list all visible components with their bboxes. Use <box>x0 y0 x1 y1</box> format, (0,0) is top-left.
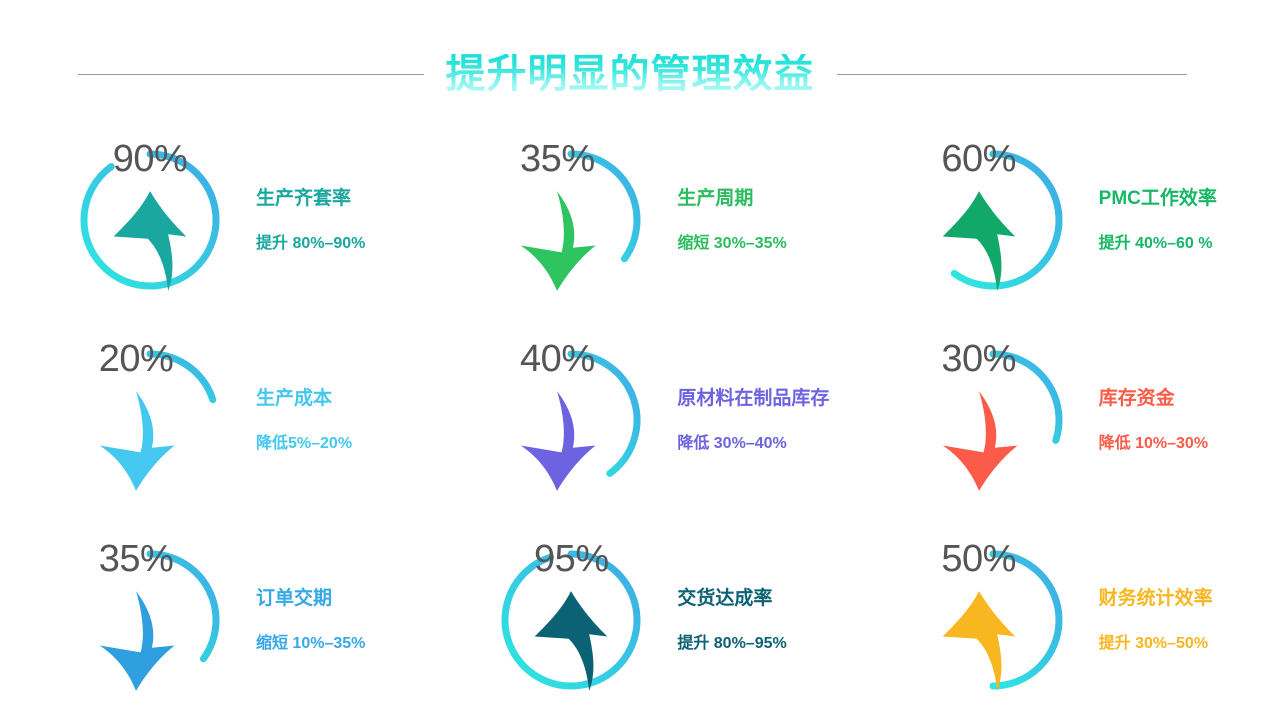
gauge-metric-name: 生产齐套率 <box>256 189 365 208</box>
gauge-ring: 20% <box>70 340 230 500</box>
header-rule-right <box>837 74 1187 75</box>
gauge-cell: 90%生产齐套率提升 80%–90% <box>0 120 421 320</box>
gauge-metric-name: 订单交期 <box>256 589 365 608</box>
gauge-cell: 35%生产周期缩短 30%–35% <box>421 120 842 320</box>
gauge-cell: 20%生产成本降低5%–20% <box>0 320 421 520</box>
gauge-arc-svg <box>913 540 1073 700</box>
gauge-metric-detail: 降低5%–20% <box>256 436 352 452</box>
gauge-arc <box>993 354 1059 440</box>
gauge-cell: 50%财务统计效率提升 30%–50% <box>843 520 1264 720</box>
gauge-metric-detail: 缩短 10%–35% <box>256 636 365 652</box>
gauge-metric-name: 交货达成率 <box>677 589 786 608</box>
gauge-labels: 库存资金降低 10%–30% <box>1099 389 1208 452</box>
gauge-ring: 30% <box>913 340 1073 500</box>
gauge-cell: 95%交货达成率提升 80%–95% <box>421 520 842 720</box>
gauge-metric-name: 财务统计效率 <box>1099 589 1213 608</box>
gauge-arc-svg <box>491 540 651 700</box>
header-rule-left <box>78 74 424 75</box>
gauge-arc <box>954 154 1059 286</box>
gauge-ring: 95% <box>491 540 651 700</box>
gauge-metric-detail: 提升 30%–50% <box>1099 636 1213 652</box>
gauge-metric-name: PMC工作效率 <box>1099 189 1217 208</box>
gauge-cell: 60%PMC工作效率提升 40%–60 % <box>843 120 1264 320</box>
gauge-metric-detail: 提升 40%–60 % <box>1099 236 1217 252</box>
page-header: 提升明显的管理效益 <box>0 44 1264 104</box>
gauge-metric-detail: 提升 80%–90% <box>256 236 365 252</box>
gauge-labels: 交货达成率提升 80%–95% <box>677 589 786 652</box>
gauge-labels: 订单交期缩短 10%–35% <box>256 589 365 652</box>
gauge-arc <box>84 154 216 286</box>
gauge-ring: 90% <box>70 140 230 300</box>
gauge-arc-svg <box>913 140 1073 300</box>
gauge-ring: 60% <box>913 140 1073 300</box>
gauge-arc <box>505 554 637 686</box>
gauge-arc <box>993 554 1059 686</box>
gauge-ring: 35% <box>70 540 230 700</box>
gauge-metric-detail: 提升 80%–95% <box>677 636 786 652</box>
gauge-labels: 原材料在制品库存降低 30%–40% <box>677 389 829 452</box>
gauge-labels: 生产齐套率提升 80%–90% <box>256 189 365 252</box>
gauge-ring: 50% <box>913 540 1073 700</box>
gauge-metric-detail: 缩短 30%–35% <box>677 236 786 252</box>
gauge-arc-svg <box>70 540 230 700</box>
gauge-ring: 40% <box>491 340 651 500</box>
gauge-arc-svg <box>913 340 1073 500</box>
gauge-metric-detail: 降低 30%–40% <box>677 436 829 452</box>
gauge-arc <box>571 154 637 259</box>
gauge-arc-svg <box>70 340 230 500</box>
gauge-metric-name: 库存资金 <box>1099 389 1208 408</box>
gauge-labels: 生产成本降低5%–20% <box>256 389 352 452</box>
gauge-cell: 35%订单交期缩短 10%–35% <box>0 520 421 720</box>
gauge-metric-name: 生产周期 <box>677 189 786 208</box>
gauge-labels: 财务统计效率提升 30%–50% <box>1099 589 1213 652</box>
gauge-arc-svg <box>70 140 230 300</box>
gauge-metric-detail: 降低 10%–30% <box>1099 436 1208 452</box>
page-title: 提升明显的管理效益 <box>446 54 815 94</box>
gauge-arc-svg <box>491 140 651 300</box>
gauge-cell: 30%库存资金降低 10%–30% <box>843 320 1264 520</box>
gauge-metric-name: 原材料在制品库存 <box>677 389 829 408</box>
gauge-grid: 90%生产齐套率提升 80%–90%35%生产周期缩短 30%–35%60%PM… <box>0 120 1264 720</box>
gauge-labels: 生产周期缩短 30%–35% <box>677 189 786 252</box>
gauge-labels: PMC工作效率提升 40%–60 % <box>1099 189 1217 252</box>
gauge-arc <box>571 354 637 473</box>
gauge-metric-name: 生产成本 <box>256 389 352 408</box>
gauge-cell: 40%原材料在制品库存降低 30%–40% <box>421 320 842 520</box>
gauge-arc <box>150 354 213 400</box>
gauge-ring: 35% <box>491 140 651 300</box>
gauge-arc <box>150 554 216 659</box>
gauge-arc-svg <box>491 340 651 500</box>
